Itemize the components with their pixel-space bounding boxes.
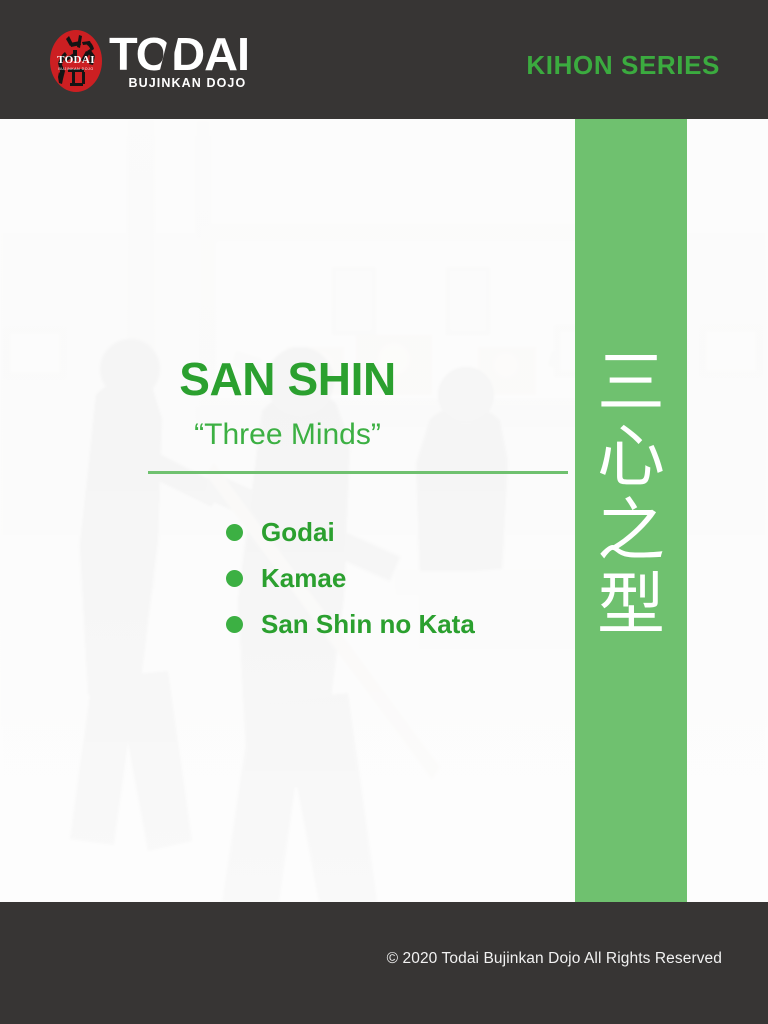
svg-text:BUJINKAN DOJO: BUJINKAN DOJO [58,67,93,71]
kanji-char-3: 之 [575,495,687,569]
topic-list: Godai Kamae San Shin no Kata [226,509,575,647]
kanji-char-2: 心 [575,421,687,495]
list-item[interactable]: San Shin no Kata [226,601,575,647]
brand-wordmark: TODAI BUJINKAN DOJO [109,33,246,90]
list-item-label: Kamae [261,563,346,593]
main-content: SAN SHIN “Three Minds” Godai Kamae San S… [0,119,575,902]
list-item-label: San Shin no Kata [261,609,475,639]
brand-tagline: BUJINKAN DOJO [109,76,246,90]
bullet-dot-icon [226,616,243,633]
list-item[interactable]: Kamae [226,555,575,601]
kanji-column: 三 心 之 型 [575,347,687,643]
kanji-char-1: 三 [575,347,687,421]
bullet-dot-icon [226,524,243,541]
slide-root: TODAI BUJINKAN DOJO TODAI BUJINKAN DOJO … [0,0,768,1024]
todai-circle-emblem-icon: TODAI BUJINKAN DOJO [46,29,106,93]
kanji-char-4: 型 [575,569,687,643]
svg-text:TODAI: TODAI [57,54,95,66]
list-item-label: Godai [261,517,335,547]
bullet-dot-icon [226,570,243,587]
page-subtitle: “Three Minds” [0,417,575,453]
kanji-accent-band: 三 心 之 型 [575,119,687,902]
brand-name: TODAI [109,33,249,75]
copyright-text: © 2020 Todai Bujinkan Dojo All Rights Re… [387,950,722,968]
series-label: KIHON SERIES [526,50,720,81]
page-title: SAN SHIN [0,354,575,404]
brand-logo[interactable]: TODAI BUJINKAN DOJO TODAI BUJINKAN DOJO [46,30,246,92]
list-item[interactable]: Godai [226,509,575,555]
page-footer: © 2020 Todai Bujinkan Dojo All Rights Re… [0,902,768,1024]
title-divider [148,471,568,474]
page-header: TODAI BUJINKAN DOJO TODAI BUJINKAN DOJO … [0,0,768,119]
